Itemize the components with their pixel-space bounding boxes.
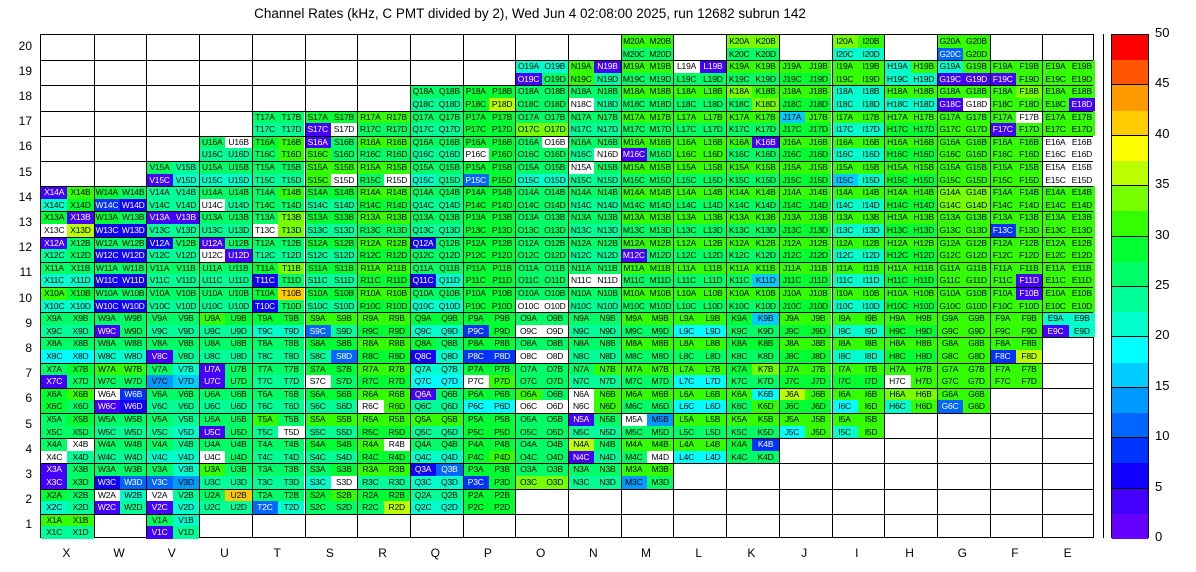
heatmap-cell: F7C — [990, 375, 1016, 388]
heatmap-cell: P6B — [489, 388, 515, 401]
heatmap-cell: N7A — [568, 363, 594, 376]
heatmap-cell: M3D — [647, 476, 673, 489]
heatmap-cell: V14C — [146, 199, 172, 212]
heatmap-cell: P14D — [489, 199, 515, 212]
heatmap-cell: R2A — [357, 489, 383, 502]
heatmap-cell: I19B — [858, 60, 884, 73]
heatmap-cell: K4D — [752, 451, 778, 464]
heatmap-cell: J10D — [805, 300, 831, 313]
heatmap-cell: G12B — [963, 237, 989, 250]
heatmap-cell: L13B — [700, 211, 726, 224]
x-axis-tick-W: W — [93, 546, 146, 560]
heatmap-cell: J14B — [805, 186, 831, 199]
row-separator — [41, 186, 1093, 187]
heatmap-cell: G9A — [937, 312, 963, 325]
heatmap-cell: T2A — [252, 489, 278, 502]
heatmap-cell: V3C — [146, 476, 172, 489]
heatmap-cell: T17D — [278, 123, 304, 136]
heatmap-cell: R5B — [384, 413, 410, 426]
heatmap-cell: V8B — [173, 337, 199, 350]
heatmap-cell: Q13B — [436, 211, 462, 224]
heatmap-cell: S3A — [305, 463, 331, 476]
heatmap-cell: L10C — [673, 300, 699, 313]
heatmap-cell: X7D — [67, 375, 93, 388]
heatmap-cell: J6D — [805, 400, 831, 413]
heatmap-cell: K9B — [752, 312, 778, 325]
heatmap-cell: O14A — [515, 186, 541, 199]
heatmap-cell: U14B — [225, 186, 251, 199]
heatmap-cell: H11C — [884, 274, 910, 287]
heatmap-cell: U5B — [225, 413, 251, 426]
heatmap-cell: K13D — [752, 224, 778, 237]
heatmap-cell: W7D — [120, 375, 146, 388]
heatmap-cell: E14D — [1069, 199, 1095, 212]
heatmap-cell: F8A — [990, 337, 1016, 350]
heatmap-cell: X1A — [41, 514, 67, 527]
heatmap-cell: P18A — [463, 85, 489, 98]
heatmap-cell: U5C — [199, 426, 225, 439]
heatmap-cell: P18B — [489, 85, 515, 98]
heatmap-cell: G15C — [937, 174, 963, 187]
heatmap-cell: W9B — [120, 312, 146, 325]
heatmap-cell: M11A — [621, 262, 647, 275]
y-axis-tick-13: 13 — [2, 215, 32, 229]
heatmap-cell: S9D — [331, 325, 357, 338]
colorbar-tick-40 — [1111, 135, 1149, 136]
heatmap-cell: S6A — [305, 388, 331, 401]
heatmap-cell: J13C — [779, 224, 805, 237]
heatmap-cell: S15C — [305, 174, 331, 187]
heatmap-cell: X8C — [41, 350, 67, 363]
y-axis-tick-18: 18 — [2, 89, 32, 103]
heatmap-cell: M5C — [621, 426, 647, 439]
heatmap-cell: T10B — [278, 287, 304, 300]
heatmap-cell: J6B — [805, 388, 831, 401]
heatmap-cell: N5A — [568, 413, 594, 426]
heatmap-cell: R16C — [357, 148, 383, 161]
x-axis-tick-O: O — [514, 546, 567, 560]
heatmap-cell: T16D — [278, 148, 304, 161]
heatmap-cell: L15C — [673, 174, 699, 187]
heatmap-cell: K4A — [726, 438, 752, 451]
heatmap-cell: J14D — [805, 199, 831, 212]
heatmap-cell: K20B — [752, 35, 778, 48]
heatmap-cell: N19B — [594, 60, 620, 73]
heatmap-cell: R3D — [384, 476, 410, 489]
heatmap-cell: G18D — [963, 98, 989, 111]
heatmap-cell: Q8A — [410, 337, 436, 350]
heatmap-cell: V4B — [173, 438, 199, 451]
heatmap-cell: O8B — [542, 337, 568, 350]
heatmap-cell: W13B — [120, 211, 146, 224]
heatmap-cell: Q17D — [436, 123, 462, 136]
heatmap-cell: I16B — [858, 136, 884, 149]
heatmap-cell: V15A — [146, 161, 172, 174]
heatmap-cell: P2A — [463, 489, 489, 502]
heatmap-cell: U7D — [225, 375, 251, 388]
colorbar-label-5: 5 — [1155, 479, 1162, 494]
heatmap-cell: M20B — [647, 35, 673, 48]
heatmap-cell: E17D — [1069, 123, 1095, 136]
heatmap-cell: T4A — [252, 438, 278, 451]
heatmap-cell: M6D — [647, 400, 673, 413]
heatmap-cell: O17B — [542, 111, 568, 124]
heatmap-cell: R6B — [384, 388, 410, 401]
heatmap-cell: X12D — [67, 249, 93, 262]
heatmap-cell: Q16A — [410, 136, 436, 149]
heatmap-cell: F15A — [990, 161, 1016, 174]
heatmap-cell: W9D — [120, 325, 146, 338]
heatmap-cell: M5D — [647, 426, 673, 439]
heatmap-cell: R17C — [357, 123, 383, 136]
heatmap-cell: T8B — [278, 337, 304, 350]
heatmap-cell: U12C — [199, 249, 225, 262]
heatmap-cell: X6B — [67, 388, 93, 401]
heatmap-cell: X10B — [67, 287, 93, 300]
heatmap-cell: J16B — [805, 136, 831, 149]
heatmap-cell: H17A — [884, 111, 910, 124]
heatmap-cell: T14A — [252, 186, 278, 199]
heatmap-cell: G12A — [937, 237, 963, 250]
heatmap-cell: N9A — [568, 312, 594, 325]
heatmap-cell: R12C — [357, 249, 383, 262]
heatmap-cell: K18A — [726, 85, 752, 98]
heatmap-cell: Q10A — [410, 287, 436, 300]
heatmap-cell: Q13D — [436, 224, 462, 237]
heatmap-cell: G17A — [937, 111, 963, 124]
heatmap-cell: R9A — [357, 312, 383, 325]
heatmap-cell: T16C — [252, 148, 278, 161]
heatmap-cell: X7C — [41, 375, 67, 388]
row-separator — [41, 60, 1093, 61]
colorbar-band — [1112, 388, 1148, 413]
heatmap-cell: U12A — [199, 237, 225, 250]
heatmap-cell: L11D — [700, 274, 726, 287]
heatmap-cell: R9D — [384, 325, 410, 338]
heatmap-cell: J18A — [779, 85, 805, 98]
heatmap-cell: K7D — [752, 375, 778, 388]
heatmap-cell: P13B — [489, 211, 515, 224]
heatmap-cell: Q10B — [436, 287, 462, 300]
heatmap-cell: L15D — [700, 174, 726, 187]
heatmap-cell: H15C — [884, 174, 910, 187]
heatmap-plot-area: X1AX1BX1CX1DX2AX2BX2CX2DX3AX3BX3CX3DX4AX… — [40, 34, 1094, 538]
heatmap-cell: O17A — [515, 111, 541, 124]
heatmap-cell: G7C — [937, 375, 963, 388]
heatmap-cell: H17D — [911, 123, 937, 136]
heatmap-cell: G8C — [937, 350, 963, 363]
heatmap-cell: S10A — [305, 287, 331, 300]
heatmap-cell: P14C — [463, 199, 489, 212]
heatmap-cell: R9B — [384, 312, 410, 325]
heatmap-cell: P7D — [489, 375, 515, 388]
heatmap-cell: K13B — [752, 211, 778, 224]
heatmap-cell: J19A — [779, 60, 805, 73]
heatmap-cell: K6C — [726, 400, 752, 413]
heatmap-cell: Q15B — [436, 161, 462, 174]
heatmap-cell: X2B — [67, 489, 93, 502]
heatmap-cell: L13C — [673, 224, 699, 237]
heatmap-cell: G6B — [963, 388, 989, 401]
heatmap-cell: N10A — [568, 287, 594, 300]
heatmap-cell: N4B — [594, 438, 620, 451]
heatmap-cell: L8D — [700, 350, 726, 363]
heatmap-cell: U15C — [199, 174, 225, 187]
heatmap-cell: R14B — [384, 186, 410, 199]
heatmap-cell: H12A — [884, 237, 910, 250]
heatmap-cell: L15A — [673, 161, 699, 174]
heatmap-cell: V13C — [146, 224, 172, 237]
x-axis-tick-Q: Q — [409, 546, 462, 560]
heatmap-cell: T17B — [278, 111, 304, 124]
heatmap-cell: G10D — [963, 300, 989, 313]
colorbar-band — [1112, 413, 1148, 438]
heatmap-cell: S17D — [331, 123, 357, 136]
heatmap-cell: R6C — [357, 400, 383, 413]
heatmap-cell: U2C — [199, 501, 225, 514]
colorbar-label-15: 15 — [1155, 378, 1169, 393]
x-axis-tick-I: I — [831, 546, 884, 560]
heatmap-cell: H10C — [884, 300, 910, 313]
heatmap-cell: M8D — [647, 350, 673, 363]
heatmap-cell: M17D — [647, 123, 673, 136]
heatmap-cell: T8C — [252, 350, 278, 363]
heatmap-cell: P10D — [489, 300, 515, 313]
heatmap-cell: W2B — [120, 489, 146, 502]
heatmap-cell: U6A — [199, 388, 225, 401]
heatmap-cell: U14C — [199, 199, 225, 212]
heatmap-cell: S15D — [331, 174, 357, 187]
heatmap-cell: M16C — [621, 148, 647, 161]
heatmap-cell: W7B — [120, 363, 146, 376]
heatmap-cell: M7C — [621, 375, 647, 388]
heatmap-cell: H16B — [911, 136, 937, 149]
heatmap-cell: O11A — [515, 262, 541, 275]
heatmap-cell: Q6B — [436, 388, 462, 401]
heatmap-cell: P3B — [489, 463, 515, 476]
heatmap-cell: I19D — [858, 73, 884, 86]
heatmap-cell: T6C — [252, 400, 278, 413]
heatmap-cell: S6D — [331, 400, 357, 413]
heatmap-cell: N18C — [568, 98, 594, 111]
heatmap-cell: M11D — [647, 274, 673, 287]
heatmap-cell: V7A — [146, 363, 172, 376]
heatmap-cell: U16A — [199, 136, 225, 149]
row-separator — [41, 136, 1093, 137]
heatmap-cell: L5A — [673, 413, 699, 426]
heatmap-cell: K10C — [726, 300, 752, 313]
page-title: Channel Rates (kHz, C PMT divided by 2),… — [0, 6, 1060, 21]
heatmap-cell: I5A — [832, 413, 858, 426]
heatmap-cell: M7D — [647, 375, 673, 388]
heatmap-cell: K12B — [752, 237, 778, 250]
heatmap-cell: O8A — [515, 337, 541, 350]
heatmap-cell: U8C — [199, 350, 225, 363]
heatmap-cell: L12D — [700, 249, 726, 262]
heatmap-cell: G13A — [937, 211, 963, 224]
heatmap-cell: I14C — [832, 199, 858, 212]
heatmap-cell: O11C — [515, 274, 541, 287]
heatmap-cell: N12B — [594, 237, 620, 250]
heatmap-cell: V5C — [146, 426, 172, 439]
heatmap-cell: T12D — [278, 249, 304, 262]
heatmap-cell: S17C — [305, 123, 331, 136]
heatmap-cell: R3A — [357, 463, 383, 476]
heatmap-cell: W3D — [120, 476, 146, 489]
heatmap-cell: M11B — [647, 262, 673, 275]
row-separator — [41, 111, 1093, 112]
heatmap-cell: M5B — [647, 413, 673, 426]
heatmap-cell: F18B — [1016, 85, 1042, 98]
heatmap-cell: Q8C — [410, 350, 436, 363]
heatmap-cell: W2C — [94, 501, 120, 514]
heatmap-cell: N14C — [568, 199, 594, 212]
heatmap-cell: L7B — [700, 363, 726, 376]
heatmap-cell: U13C — [199, 224, 225, 237]
heatmap-cell: N8D — [594, 350, 620, 363]
heatmap-cell: Q9A — [410, 312, 436, 325]
heatmap-cell: R9C — [357, 325, 383, 338]
heatmap-cell: S5B — [331, 413, 357, 426]
heatmap-cell: Q16B — [436, 136, 462, 149]
heatmap-cell: W5C — [94, 426, 120, 439]
heatmap-cell: O15C — [515, 174, 541, 187]
heatmap-cell: X2D — [67, 501, 93, 514]
heatmap-cell: Q7B — [436, 363, 462, 376]
heatmap-cell: M16A — [621, 136, 647, 149]
heatmap-cell: J7C — [779, 375, 805, 388]
heatmap-cell: I11B — [858, 262, 884, 275]
heatmap-cell: J5A — [779, 413, 805, 426]
heatmap-cell: T10C — [252, 300, 278, 313]
heatmap-cell: W6A — [94, 388, 120, 401]
heatmap-cell: F16A — [990, 136, 1016, 149]
heatmap-cell: R12D — [384, 249, 410, 262]
heatmap-cell: S9B — [331, 312, 357, 325]
heatmap-cell: G19D — [963, 73, 989, 86]
heatmap-cell: W12B — [120, 237, 146, 250]
heatmap-cell: H11B — [911, 262, 937, 275]
heatmap-cell: T10A — [252, 287, 278, 300]
heatmap-cell: N10C — [568, 300, 594, 313]
heatmap-cell: R15B — [384, 161, 410, 174]
colorbar-band — [1112, 60, 1148, 85]
colorbar-tick-15 — [1111, 387, 1149, 388]
heatmap-cell: O19D — [542, 73, 568, 86]
heatmap-cell: N6A — [568, 388, 594, 401]
heatmap-cell: N4D — [594, 451, 620, 464]
heatmap-cell: P9B — [489, 312, 515, 325]
heatmap-cell: S11D — [331, 274, 357, 287]
heatmap-cell: K14D — [752, 199, 778, 212]
heatmap-cell: N15D — [594, 174, 620, 187]
x-axis-tick-K: K — [725, 546, 778, 560]
heatmap-cell: W9C — [94, 325, 120, 338]
heatmap-cell: G6D — [963, 400, 989, 413]
heatmap-cell: L6A — [673, 388, 699, 401]
row-separator — [41, 262, 1093, 263]
heatmap-cell: Q16D — [436, 148, 462, 161]
heatmap-cell: L9B — [700, 312, 726, 325]
heatmap-cell: M20D — [647, 48, 673, 61]
heatmap-cell: O8C — [515, 350, 541, 363]
heatmap-cell: K8C — [726, 350, 752, 363]
heatmap-cell: P17D — [489, 123, 515, 136]
heatmap-cell: I19A — [832, 60, 858, 73]
colorbar-label-0: 0 — [1155, 529, 1162, 544]
heatmap-cell: G18A — [937, 85, 963, 98]
heatmap-cell: E13B — [1069, 211, 1095, 224]
heatmap-cell: K11B — [752, 262, 778, 275]
heatmap-cell: G9B — [963, 312, 989, 325]
heatmap-cell: K12D — [752, 249, 778, 262]
heatmap-cell: P3C — [463, 476, 489, 489]
heatmap-cell: N6D — [594, 400, 620, 413]
heatmap-cell: O13D — [542, 224, 568, 237]
heatmap-cell: G7B — [963, 363, 989, 376]
heatmap-cell: F16D — [1016, 148, 1042, 161]
heatmap-cell: U16C — [199, 148, 225, 161]
heatmap-cell: Q9D — [436, 325, 462, 338]
heatmap-cell: P9C — [463, 325, 489, 338]
heatmap-cell: S8A — [305, 337, 331, 350]
heatmap-cell: R7C — [357, 375, 383, 388]
heatmap-cell: U7B — [225, 363, 251, 376]
heatmap-cell: R5A — [357, 413, 383, 426]
heatmap-cell: H16A — [884, 136, 910, 149]
heatmap-cell: X8A — [41, 337, 67, 350]
heatmap-cell: T4C — [252, 451, 278, 464]
heatmap-cell: J15D — [805, 174, 831, 187]
heatmap-cell: I10A — [832, 287, 858, 300]
heatmap-cell: I11C — [832, 274, 858, 287]
x-axis-tick-F: F — [989, 546, 1042, 560]
heatmap-cell: W13C — [94, 224, 120, 237]
heatmap-cell: H17B — [911, 111, 937, 124]
heatmap-cell: J13A — [779, 211, 805, 224]
heatmap-cell: X7B — [67, 363, 93, 376]
heatmap-cell: P11D — [489, 274, 515, 287]
heatmap-cell: O19B — [542, 60, 568, 73]
heatmap-cell: E10C — [1042, 300, 1068, 313]
heatmap-cell: K19A — [726, 60, 752, 73]
heatmap-cell: M17A — [621, 111, 647, 124]
heatmap-cell: E19B — [1069, 60, 1095, 73]
heatmap-cell: U4D — [225, 451, 251, 464]
heatmap-cell: Q7C — [410, 375, 436, 388]
heatmap-cell: E18B — [1069, 85, 1095, 98]
heatmap-cell: G19B — [963, 60, 989, 73]
heatmap-cell: Q12C — [410, 249, 436, 262]
heatmap-cell: N9C — [568, 325, 594, 338]
heatmap-cell: N3A — [568, 463, 594, 476]
heatmap-cell: K20D — [752, 48, 778, 61]
heatmap-cell: Q18A — [410, 85, 436, 98]
heatmap-cell: P10A — [463, 287, 489, 300]
heatmap-cell: V1B — [173, 514, 199, 527]
heatmap-cell: O4C — [515, 451, 541, 464]
heatmap-cell: S11B — [331, 262, 357, 275]
heatmap-cell: Q6A — [410, 388, 436, 401]
heatmap-cell: F19B — [1016, 60, 1042, 73]
x-axis-tick-U: U — [198, 546, 251, 560]
heatmap-cell: H12B — [911, 237, 937, 250]
heatmap-cell: U8A — [199, 337, 225, 350]
heatmap-cell: I9A — [832, 312, 858, 325]
heatmap-cell: F7B — [1016, 363, 1042, 376]
heatmap-cell: I6B — [858, 388, 884, 401]
heatmap-cell: L10D — [700, 300, 726, 313]
